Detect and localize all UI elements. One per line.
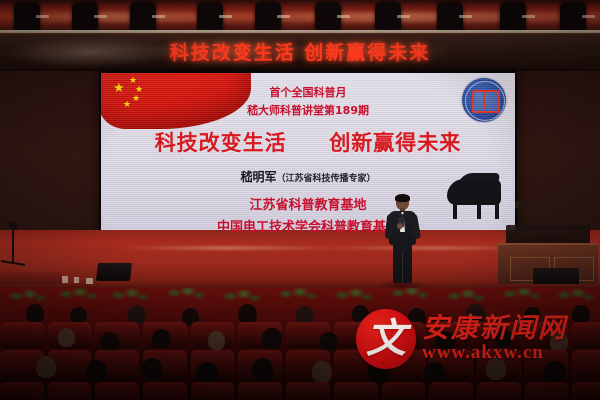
stage-spotlight-icon [72, 2, 98, 32]
audience-head [86, 360, 107, 383]
watermark-text-block: 安康新闻网 www.akxw.cn [422, 315, 567, 362]
stage-floor-sheen [120, 246, 540, 250]
projection-screen: ★ ★ ★ ★ ★ 首个全国科普月 嵇大师科普讲堂第189期 科技改变生活 创新… [99, 71, 517, 235]
piano-leg [453, 199, 457, 219]
slide-base-line1: 江苏省科普教育基地 [249, 194, 366, 213]
potted-plant-icon [278, 288, 318, 306]
theater-seat-icon [143, 382, 187, 400]
audience-head [238, 304, 257, 324]
theater-seat-icon [334, 382, 378, 400]
audience-head [312, 361, 332, 383]
watermark-site-url: www.akxw.cn [422, 343, 567, 363]
site-watermark: 文 安康新闻网 www.akxw.cn [356, 306, 594, 372]
floor-item [74, 277, 79, 283]
audience-head [152, 329, 170, 348]
slide-header-line2: 嵇大师科普讲堂第189期 [247, 102, 369, 118]
potted-plant-icon [58, 288, 98, 306]
auditorium-photo: 科技改变生活 创新赢得未来 ★ ★ ★ ★ ★ 首个全国科普月 嵇大师科普讲堂第… [0, 0, 600, 400]
stage-spotlight-icon [315, 2, 341, 32]
ceiling-truss [0, 0, 600, 34]
presenter-hair [395, 194, 410, 202]
audience-head [252, 358, 273, 381]
piano-leg [477, 199, 481, 219]
stage-spotlight-icon [255, 2, 281, 32]
audience-head [142, 358, 162, 380]
stage-spotlight-icon [14, 2, 40, 32]
potted-plant-icon [166, 288, 206, 305]
potted-plant-icon [8, 288, 48, 308]
microphone-stand-icon [518, 206, 520, 238]
slide-speaker-affiliation: （江苏省科技传播专家） [277, 174, 376, 184]
potted-plant-icon [110, 288, 150, 307]
stage-spotlight-icon [437, 2, 463, 32]
stage-spotlight-icon [197, 2, 223, 32]
stage-spotlight-icon [375, 2, 401, 32]
floor-item [62, 276, 68, 283]
slide-speaker-line: 嵇明军（江苏省科技传播专家） [240, 168, 375, 185]
stage-monitor-speaker-icon [96, 263, 132, 281]
akxw-logo-icon: 文 [356, 309, 416, 369]
audience-head [36, 356, 56, 378]
slide-speaker-name: 嵇明军 [240, 170, 276, 184]
theater-seat-icon [0, 382, 44, 400]
stage-spotlight-icon [500, 2, 526, 32]
potted-plant-icon [556, 288, 596, 307]
theater-seat-icon [286, 382, 330, 400]
audience-head [58, 328, 75, 347]
piano-leg [495, 199, 499, 219]
potted-plant-icon [390, 288, 430, 305]
slide-main-title: 科技改变生活 创新赢得未来 [155, 127, 462, 157]
watermark-site-name: 安康新闻网 [422, 315, 567, 343]
audience-head [262, 328, 282, 349]
stage-spotlight-icon [130, 2, 156, 32]
theater-seat-icon [48, 382, 92, 400]
stage-spotlight-icon [560, 2, 586, 32]
theater-seat-icon [95, 382, 139, 400]
presentation-slide: ★ ★ ★ ★ ★ 首个全国科普月 嵇大师科普讲堂第189期 科技改变生活 创新… [101, 73, 515, 233]
slide-header-line1: 首个全国科普月 [270, 84, 347, 100]
theater-seat-icon [0, 322, 44, 348]
theater-seat-icon [191, 382, 235, 400]
slide-title-left: 科技改变生活 [155, 131, 287, 155]
venue-led-banner: 科技改变生活 创新赢得未来 [0, 33, 600, 71]
theater-seat-icon [572, 382, 600, 400]
presenter-person-icon [383, 195, 421, 285]
presenter-hand [397, 223, 403, 229]
theater-seat-icon [238, 382, 282, 400]
grand-piano-icon [443, 173, 505, 225]
audience-head [100, 332, 119, 352]
microphone-stand-icon [12, 228, 14, 264]
audience-head [320, 332, 338, 351]
potted-plant-icon [502, 288, 542, 306]
seat-row [0, 382, 600, 400]
theater-seat-icon [382, 382, 426, 400]
theater-seat-icon [429, 382, 473, 400]
slide-title-right: 创新赢得未来 [329, 131, 461, 155]
theater-seat-icon [525, 382, 569, 400]
theater-seat-icon [477, 382, 521, 400]
audience-head [208, 331, 225, 350]
presenter-trousers [393, 243, 412, 283]
audience-head [26, 304, 44, 323]
venue-banner-text: 科技改变生活 创新赢得未来 [170, 38, 431, 65]
potted-plant-icon [334, 288, 374, 307]
slide-base-line2: 中国电工技术学会科普教育基地 [217, 216, 399, 233]
akxw-logo-glyph: 文 [356, 309, 416, 369]
